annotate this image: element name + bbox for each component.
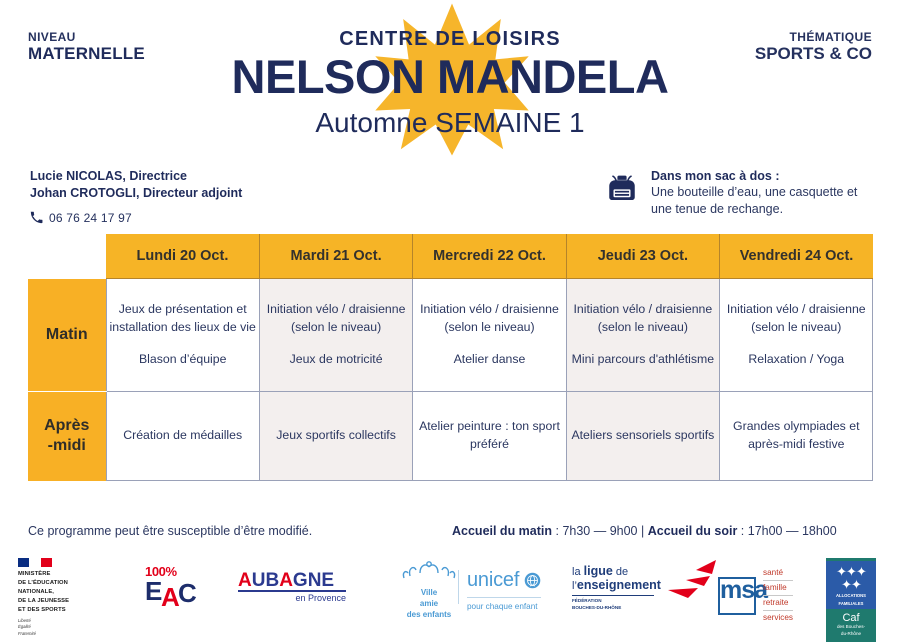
aubagne-wordmark: AUBAGNE (238, 570, 346, 592)
cell-afternoon-monday: Création de médailles (106, 392, 259, 481)
caf-wordmark: Caf (826, 612, 876, 624)
staff-block: Lucie NICOLAS, Directrice Johan CROTOGLI… (30, 168, 242, 225)
ministere-line-1: MINISTÈRE (18, 570, 69, 579)
aubagne-subtitle: en Provence (238, 593, 346, 603)
eac-letter-e: E (145, 576, 162, 607)
backpack-block: Dans mon sac à dos : Une bouteille d’eau… (605, 168, 857, 218)
french-flag-icon (18, 558, 52, 567)
cell-morning-monday: Jeux de présentation et installation des… (106, 279, 259, 392)
phone-number: 06 76 24 17 97 (49, 211, 132, 225)
ligue-ligue: ligue (584, 564, 613, 578)
row-label-line-1: Après (28, 416, 106, 436)
centre-name: NELSON MANDELA (0, 53, 900, 101)
phone-icon (30, 211, 43, 224)
caf-sub-1: des Bouches- (826, 624, 876, 631)
caf-allocations-2: FAMILIALES (826, 601, 876, 607)
msa-word-1: santé (763, 566, 793, 581)
cell-afternoon-friday: Grandes olympiades et après-midi festive (720, 392, 873, 481)
logo-ville-amie-des-enfants: Ville amie des enfants (398, 560, 460, 621)
caf-allocations-1: ALLOCATIONS (826, 593, 876, 599)
cell-afternoon-wednesday: Atelier peinture : ton sport préféré (413, 392, 566, 481)
ligue-la: la (572, 566, 584, 578)
vae-line-1: Ville (398, 587, 460, 598)
ligue-line-1: la ligue de (572, 564, 661, 578)
cell-morning-wednesday: Initiation vélo / draisienne (selon le n… (413, 279, 566, 392)
eac-letter-a: A (161, 582, 180, 613)
unicef-content: unicef pour chaque enfant (467, 570, 541, 611)
logo-caf: ✦✦✦✦✦ ALLOCATIONS FAMILIALES Caf des Bou… (826, 558, 876, 642)
msa-services: santé famille retraite services (763, 566, 793, 625)
ligue-federation-1: FÉDÉRATION (572, 598, 661, 605)
unicef-tagline: pour chaque enfant (467, 597, 541, 611)
caf-sub-2: du-Rhône (826, 631, 876, 638)
period-label: Automne SEMAINE 1 (0, 107, 900, 139)
schedule-row-morning: Matin Jeux de présentation et installati… (28, 279, 873, 392)
ministere-line-4: DE LA JEUNESSE (18, 597, 69, 606)
schedule-header-row: Lundi 20 Oct. Mardi 21 Oct. Mercredi 22 … (28, 234, 873, 279)
day-header-friday: Vendredi 24 Oct. (720, 234, 873, 279)
backpack-line-2: une tenue de rechange. (651, 201, 857, 218)
backpack-line-1: Une bouteille d’eau, une casquette et (651, 184, 857, 201)
logo-msa: msa santé famille retraite services (718, 566, 793, 625)
cell-text-primary: Initiation vélo / draisienne (selon le n… (567, 301, 719, 337)
cell-text-primary: Atelier peinture : ton sport préféré (413, 418, 565, 454)
ministere-name: MINISTÈRE DE L’ÉDUCATION NATIONALE, DE L… (18, 570, 69, 615)
ligue-enseignement: enseignement (577, 578, 661, 592)
aubagne-part-1: A (238, 570, 252, 591)
day-header-thursday: Jeudi 23 Oct. (566, 234, 719, 279)
logo-ligue-enseignement: la ligue de l’enseignement FÉDÉRATION BO… (572, 564, 661, 612)
aubagne-part-2: UB (252, 570, 279, 591)
ligue-rule (572, 595, 654, 596)
ministere-motto: Liberté Égalité Fraternité (18, 618, 69, 637)
msa-monogram: msa (718, 577, 756, 615)
day-header-tuesday: Mardi 21 Oct. (259, 234, 412, 279)
phone-row: 06 76 24 17 97 (30, 211, 242, 225)
logo-ministere-education: MINISTÈRE DE L’ÉDUCATION NATIONALE, DE L… (18, 558, 69, 637)
vae-line-3: des enfants (398, 609, 460, 620)
day-header-wednesday: Mercredi 22 Oct. (413, 234, 566, 279)
day-header-monday: Lundi 20 Oct. (106, 234, 259, 279)
cell-text-primary: Création de médailles (107, 427, 259, 445)
eac-letter-c: C (178, 578, 197, 609)
cell-text-secondary: Blason d’équipe (107, 351, 259, 369)
ligue-de: de (613, 566, 628, 578)
hours-morning-label: Accueil du matin (452, 524, 552, 538)
cell-text-secondary: Mini parcours d'athlétisme (567, 351, 719, 369)
centre-label: CENTRE DE LOISIRS (0, 0, 900, 51)
hours-evening-value: : 17h00 — 18h00 (737, 524, 836, 538)
cell-afternoon-thursday: Ateliers sensoriels sportifs (566, 392, 719, 481)
table-corner (28, 234, 106, 279)
ligue-arrows-icon (654, 560, 716, 602)
title-block: CENTRE DE LOISIRS NELSON MANDELA Automne… (0, 0, 900, 160)
unicef-divider (458, 570, 459, 604)
logo-aubagne: AUBAGNE en Provence (238, 570, 346, 603)
disclaimer-note: Ce programme peut être susceptible d’êtr… (28, 524, 312, 538)
eac-letters: E A C (145, 579, 205, 607)
logo-unicef: unicef pour chaque enfant (458, 570, 541, 611)
info-strip: Lucie NICOLAS, Directrice Johan CROTOGLI… (0, 160, 900, 232)
hours-morning-value: : 7h30 — 9h00 | (552, 524, 648, 538)
cell-afternoon-tuesday: Jeux sportifs collectifs (259, 392, 412, 481)
cell-text-primary: Initiation vélo / draisienne (selon le n… (413, 301, 565, 337)
row-label-line-2: -midi (28, 436, 106, 456)
cell-text-primary: Initiation vélo / draisienne (selon le n… (720, 301, 872, 337)
caf-stars-icon: ✦✦✦✦✦ (826, 565, 876, 591)
cell-text-primary: Jeux de présentation et installation des… (107, 301, 259, 337)
backpack-icon (605, 171, 639, 205)
unicef-globe-icon (524, 572, 541, 589)
cell-text-secondary: Jeux de motricité (260, 351, 412, 369)
director-name: Lucie NICOLAS, Directrice (30, 168, 242, 185)
poster-header: NIVEAU MATERNELLE THÉMATIQUE SPORTS & CO… (0, 0, 900, 160)
msa-word-3: retraite (763, 596, 793, 611)
ministere-line-5: ET DES SPORTS (18, 606, 69, 615)
cell-text-secondary: Atelier danse (413, 351, 565, 369)
deputy-name: Johan CROTOGLI, Directeur adjoint (30, 185, 242, 202)
title-text: CENTRE DE LOISIRS NELSON MANDELA Automne… (0, 0, 900, 139)
cell-text-primary: Grandes olympiades et après-midi festive (720, 418, 872, 454)
ligue-line-2: l’enseignement (572, 578, 661, 592)
cell-morning-thursday: Initiation vélo / draisienne (selon le n… (566, 279, 719, 392)
partner-logos: MINISTÈRE DE L’ÉDUCATION NATIONALE, DE L… (0, 552, 900, 626)
crown-icon (398, 560, 460, 582)
caf-top-panel: ✦✦✦✦✦ ALLOCATIONS FAMILIALES (826, 561, 876, 609)
aubagne-part-4: GNE (293, 570, 334, 591)
cell-text-primary: Ateliers sensoriels sportifs (567, 427, 719, 445)
vae-line-2: amie (398, 598, 460, 609)
aubagne-part-3: A (279, 570, 293, 591)
msa-word-2: famille (763, 581, 793, 596)
cell-text-primary: Initiation vélo / draisienne (selon le n… (260, 301, 412, 337)
schedule-table: Lundi 20 Oct. Mardi 21 Oct. Mercredi 22 … (28, 234, 873, 481)
row-label-afternoon: Après -midi (28, 392, 106, 481)
schedule-row-afternoon: Après -midi Création de médailles Jeux s… (28, 392, 873, 481)
backpack-text: Dans mon sac à dos : Une bouteille d’eau… (651, 168, 857, 218)
ligue-federation-2: BOUCHES-DU-RHÔNE (572, 605, 661, 612)
cell-text-primary: Jeux sportifs collectifs (260, 427, 412, 445)
row-label-morning: Matin (28, 279, 106, 392)
unicef-wordmark: unicef (467, 570, 519, 590)
opening-hours: Accueil du matin : 7h30 — 9h00 | Accueil… (452, 524, 837, 538)
backpack-title: Dans mon sac à dos : (651, 168, 857, 184)
ministere-line-2: DE L’ÉDUCATION (18, 579, 69, 588)
msa-word-4: services (763, 611, 793, 625)
cell-text-secondary: Relaxation / Yoga (720, 351, 872, 369)
cell-morning-friday: Initiation vélo / draisienne (selon le n… (720, 279, 873, 392)
ministere-line-3: NATIONALE, (18, 588, 69, 597)
logo-100-eac: 100% E A C (145, 564, 205, 607)
hours-evening-label: Accueil du soir (648, 524, 738, 538)
cell-morning-tuesday: Initiation vélo / draisienne (selon le n… (259, 279, 412, 392)
